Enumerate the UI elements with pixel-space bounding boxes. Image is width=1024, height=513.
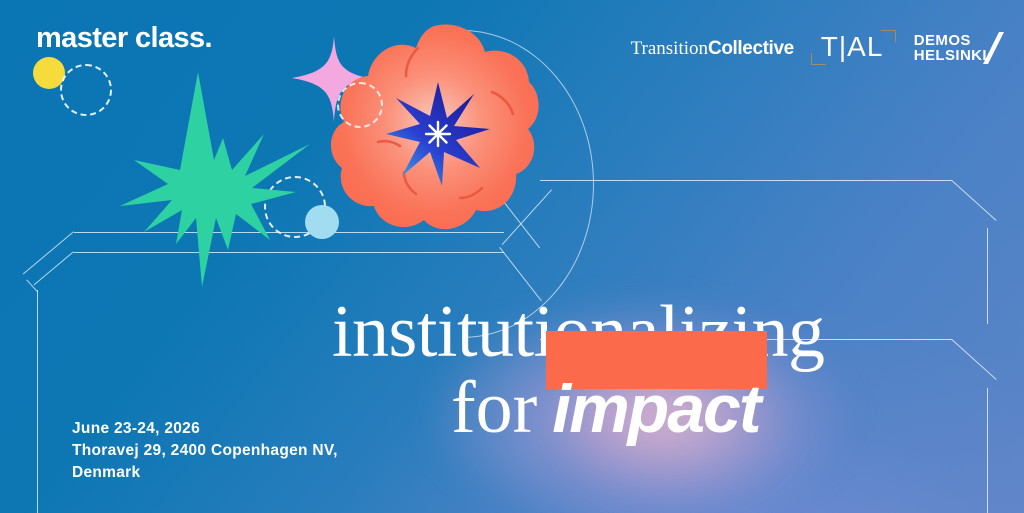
event-details: June 23-24, 2026 Thoravej 29, 2400 Copen… — [72, 418, 338, 484]
logo-demos-helsinki: DEMOS HELSINKI — [914, 31, 1004, 65]
frame-cross-line-1 — [491, 186, 540, 248]
light-blue-circle — [305, 205, 339, 239]
frame-diagonal-left-2 — [34, 251, 74, 285]
frame-diagonal-left-3 — [26, 279, 37, 292]
frame-cross-line-2 — [502, 189, 552, 245]
event-address-line-1: Thoravej 29, 2400 Copenhagen NV, — [72, 440, 338, 462]
logo-transition-collective-bold: Collective — [708, 39, 794, 58]
dashed-circle-outline-top — [60, 64, 112, 116]
logo-demos-line2: HELSINKI — [914, 48, 987, 63]
frame-line-left-vertical — [37, 290, 38, 513]
frame-diagonal-left-1 — [23, 231, 74, 274]
eight-point-star-icon — [386, 82, 490, 186]
event-banner: master class. TransitionCollective T|AL … — [0, 0, 1024, 513]
logo-tial-label: T|AL — [821, 33, 884, 61]
frame-line-top-right-1 — [540, 180, 952, 181]
event-dates: June 23-24, 2026 — [72, 418, 338, 440]
eyebrow-label: master class. — [36, 22, 212, 55]
logo-tial: T|AL — [811, 28, 897, 68]
diagonal-slash-icon — [982, 31, 1004, 65]
headline: institutionalizing for impact — [332, 296, 992, 445]
dashed-circle-outline-cloud — [337, 82, 383, 128]
frame-line-top-left-2 — [74, 252, 504, 253]
asterisk-sparkle-icon — [426, 122, 450, 146]
headline-emphasis: impact — [552, 371, 759, 447]
headline-emphasis-wrap: impact — [552, 375, 759, 443]
logo-transition-collective-serif: Transition — [631, 39, 708, 58]
headline-prefix: for — [451, 371, 537, 445]
frame-diagonal-right-1 — [951, 180, 996, 221]
cloud-flower-shape — [330, 22, 542, 244]
event-address-line-2: Denmark — [72, 462, 338, 484]
headline-line-2: for impact — [332, 371, 992, 445]
logo-transition-collective: TransitionCollective — [631, 39, 794, 58]
logo-demos-line1: DEMOS — [914, 33, 987, 48]
partner-logo-bar: TransitionCollective T|AL DEMOS HELSINKI — [631, 28, 1004, 68]
logo-demos-helsinki-text: DEMOS HELSINKI — [914, 33, 987, 64]
